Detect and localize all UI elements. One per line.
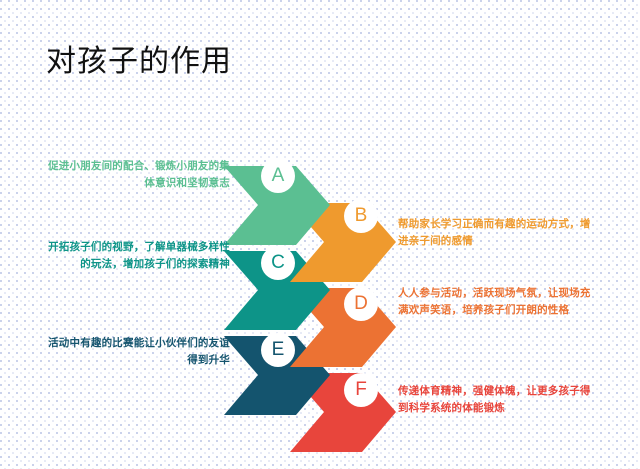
- letter-badge-b-text: B: [355, 205, 368, 227]
- letter-badge-c-text: C: [271, 252, 285, 274]
- letter-badge-f[interactable]: F: [344, 373, 378, 407]
- letter-badge-a[interactable]: A: [261, 159, 295, 193]
- letter-badge-f-text: F: [355, 379, 367, 401]
- letter-badge-d-text: D: [354, 293, 368, 315]
- description-f: 传递体育精神，强健体魄，让更多孩子得到科学系统的体能锻炼: [398, 383, 598, 417]
- letter-badge-a-text: A: [272, 165, 285, 187]
- letter-badge-d[interactable]: D: [344, 287, 378, 321]
- letter-badge-e[interactable]: E: [261, 333, 295, 367]
- letter-badge-b[interactable]: B: [344, 199, 378, 233]
- description-b: 帮助家长学习正确而有趣的运动方式，增进亲子间的感情: [398, 216, 598, 250]
- description-e: 活动中有趣的比赛能让小伙伴们的友谊得到升华: [40, 335, 230, 369]
- letter-badge-c[interactable]: C: [261, 246, 295, 280]
- description-d: 人人参与活动，活跃现场气氛，让现场充满欢声笑语，培养孩子们开朗的性格: [398, 285, 598, 319]
- page-title: 对孩子的作用: [46, 44, 232, 80]
- letter-badge-e-text: E: [272, 339, 285, 361]
- description-c: 开拓孩子们的视野，了解单器械多样性的玩法，增加孩子们的探索精神: [40, 239, 230, 273]
- description-a: 促进小朋友间的配合、锻炼小朋友的集体意识和坚韧意志: [40, 158, 230, 192]
